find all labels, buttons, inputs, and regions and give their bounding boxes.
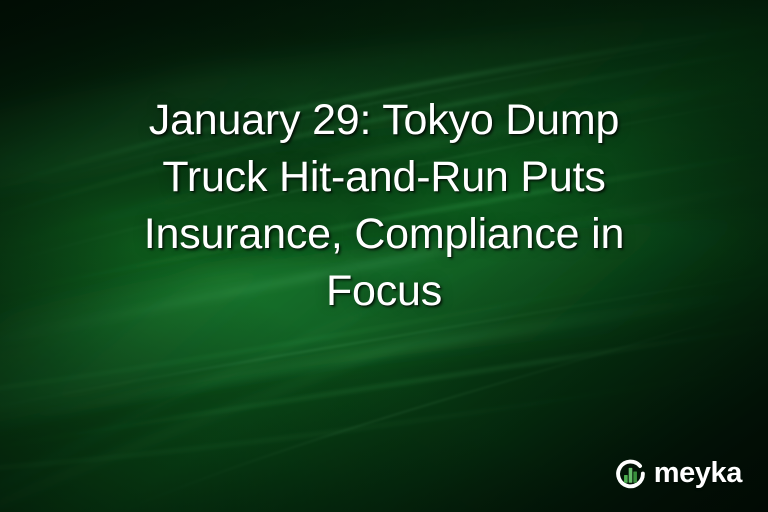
wave-line-7 [0,362,768,470]
logo-bar-2 [628,468,632,483]
wave-line-6 [0,322,768,452]
logo-bar-3 [633,471,637,482]
logo-icon-svg [614,457,647,490]
headline-container: January 29: Tokyo Dump Truck Hit-and-Run… [0,92,768,320]
meyka-bar-chart-circle-icon [614,457,647,490]
page-title: January 29: Tokyo Dump Truck Hit-and-Run… [48,92,720,320]
brand-logo: meyka [614,457,742,490]
logo-bar-1 [624,475,628,483]
news-card: January 29: Tokyo Dump Truck Hit-and-Run… [0,0,768,512]
logo-wordmark: meyka [654,459,742,488]
